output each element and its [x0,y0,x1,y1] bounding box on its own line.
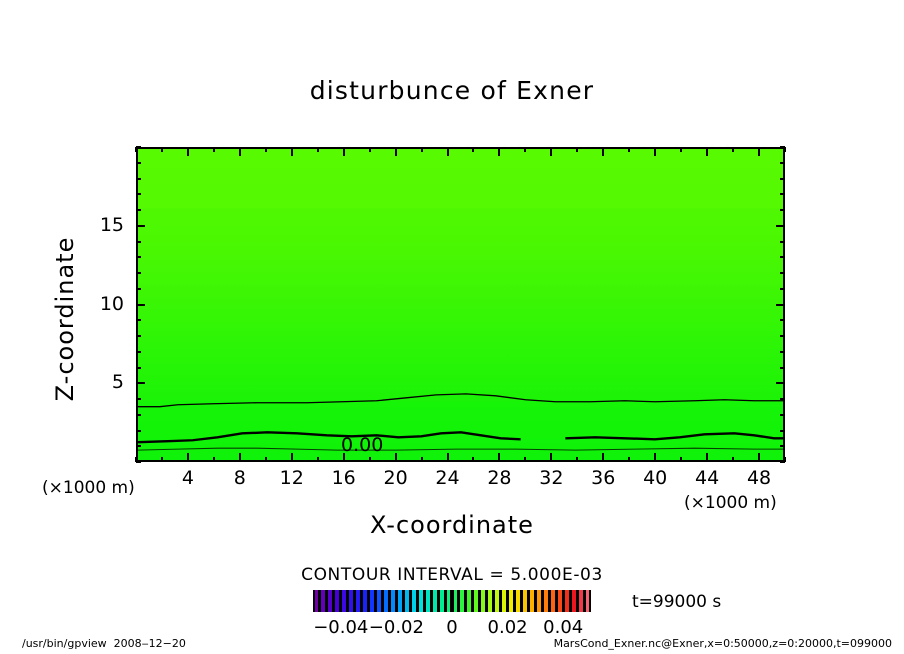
footer-command: /usr/bin/gpview 2008‒12−20 [22,637,186,650]
y-tick-minor [136,351,141,353]
x-tick-minor [680,457,682,462]
colorbar-band [447,590,451,612]
contour-interval-label: CONTOUR INTERVAL = 5.000E-03 [0,565,904,585]
x-tick-major [395,453,397,462]
y-tick-label: 10 [74,293,124,315]
colorbar-band [440,590,444,612]
colorbar-band [454,590,458,612]
x-tick-major [550,453,552,462]
y-tick-right-minor [780,319,785,321]
colorbar-band [391,590,395,612]
x-tick-minor [265,457,267,462]
colorbar-band [516,590,520,612]
y-tick-minor [136,146,141,148]
x-tick-top-minor [421,147,423,152]
x-tick-label: 48 [734,467,784,489]
y-tick-minor [136,162,141,164]
y-tick-right-minor [780,461,785,463]
colorbar-band [315,590,319,612]
y-tick-major [136,382,145,384]
footer-dataset: MarsCond_Exner.nc@Exner,x=0:50000,z=0:20… [554,637,892,650]
x-tick-label: 12 [267,467,317,489]
x-tick-minor [524,457,526,462]
colorbar-band [530,590,534,612]
x-tick-major [187,453,189,462]
x-tick-label: 36 [578,467,628,489]
x-tick-top-major [395,147,397,156]
page-title: disturbunce of Exner [0,76,904,105]
x-tick-top-minor [680,147,682,152]
x-tick-major [758,453,760,462]
colorbar-band [460,590,464,612]
colorbar-band [537,590,541,612]
y-tick-right-minor [780,193,785,195]
y-tick-minor [136,367,141,369]
y-tick-minor [136,445,141,447]
x-tick-minor [732,457,734,462]
x-tick-major [239,453,241,462]
colorbar-band [328,590,332,612]
colorbar-band [384,590,388,612]
x-tick-top-major [498,147,500,156]
x-tick-minor [421,457,423,462]
x-tick-minor [317,457,319,462]
y-tick-major [136,304,145,306]
y-tick-label: 15 [74,214,124,236]
contour-plot-area [136,147,785,462]
colorbar-band [356,590,360,612]
x-tick-label: 16 [319,467,369,489]
y-tick-right-minor [780,430,785,432]
x-tick-minor [161,457,163,462]
y-tick-minor [136,414,141,416]
colorbar-band [551,590,555,612]
colorbar-band [412,590,416,612]
x-tick-top-minor [628,147,630,152]
y-tick-minor [136,288,141,290]
colorbar-band [544,590,548,612]
x-tick-label: 28 [474,467,524,489]
x-tick-top-major [187,147,189,156]
x-tick-label: 20 [371,467,421,489]
x-tick-top-major [343,147,345,156]
x-tick-label: 44 [682,467,732,489]
y-tick-right-minor [780,272,785,274]
x-tick-top-minor [472,147,474,152]
colorbar-band [405,590,409,612]
colorbar-band [565,590,569,612]
x-axis-unit-label: (×1000 m) [684,493,777,513]
y-tick-right-major [776,225,785,227]
colorbar-band [502,590,506,612]
y-tick-minor [136,319,141,321]
x-tick-minor [213,457,215,462]
x-tick-top-major [654,147,656,156]
x-tick-top-minor [213,147,215,152]
colorbar-band [572,590,576,612]
colorbar-band [398,590,402,612]
colorbar-band [495,590,499,612]
y-tick-right-minor [780,241,785,243]
colorbar-tick-label: 0.04 [523,617,603,638]
colorbar-band [579,590,583,612]
contour-lines [138,149,783,460]
y-tick-minor [136,209,141,211]
x-tick-top-minor [161,147,163,152]
y-tick-label: 5 [74,371,124,393]
y-tick-right-major [776,304,785,306]
x-tick-top-major [706,147,708,156]
x-tick-top-major [239,147,241,156]
x-tick-top-minor [732,147,734,152]
x-tick-top-major [602,147,604,156]
colorbar [313,590,591,612]
y-tick-right-minor [780,288,785,290]
y-tick-minor [136,241,141,243]
y-tick-right-minor [780,256,785,258]
y-tick-minor [136,256,141,258]
colorbar-band [474,590,478,612]
colorbar-band [342,590,346,612]
y-tick-minor [136,335,141,337]
contour-label-zero: 0.00 [341,434,383,456]
y-tick-minor [136,461,141,463]
x-tick-major [602,453,604,462]
time-annotation: t=99000 s [632,592,721,612]
y-axis-title: Z-coordinate [51,199,79,439]
x-tick-minor [472,457,474,462]
x-tick-label: 32 [526,467,576,489]
x-tick-label: 8 [215,467,265,489]
x-tick-major [654,453,656,462]
y-tick-minor [136,178,141,180]
colorbar-band [481,590,485,612]
x-tick-label: 40 [630,467,680,489]
x-tick-top-major [758,147,760,156]
y-tick-right-minor [780,146,785,148]
y-tick-right-minor [780,178,785,180]
y-tick-minor [136,272,141,274]
colorbar-band [419,590,423,612]
x-tick-major [498,453,500,462]
y-tick-right-minor [780,209,785,211]
y-tick-right-major [776,382,785,384]
x-tick-top-major [447,147,449,156]
colorbar-band [488,590,492,612]
colorbar-band [321,590,325,612]
x-tick-major [291,453,293,462]
y-tick-right-minor [780,335,785,337]
x-tick-major [447,453,449,462]
x-tick-minor [628,457,630,462]
colorbar-band [467,590,471,612]
colorbar-band [426,590,430,612]
y-tick-right-minor [780,414,785,416]
y-tick-right-minor [780,445,785,447]
x-axis-title: X-coordinate [0,511,904,539]
colorbar-band [370,590,374,612]
x-tick-top-minor [369,147,371,152]
x-tick-top-major [291,147,293,156]
colorbar-band [433,590,437,612]
x-tick-label: 4 [163,467,213,489]
x-tick-minor [576,457,578,462]
x-tick-minor [369,457,371,462]
colorbar-band [335,590,339,612]
x-tick-top-minor [265,147,267,152]
x-tick-major [343,453,345,462]
y-tick-minor [136,430,141,432]
x-tick-top-minor [524,147,526,152]
y-tick-major [136,225,145,227]
y-tick-right-minor [780,162,785,164]
colorbar-band [558,590,562,612]
colorbar-band [377,590,381,612]
y-tick-minor [136,398,141,400]
y-tick-right-minor [780,398,785,400]
y-tick-right-minor [780,367,785,369]
y-tick-minor [136,193,141,195]
x-tick-major [706,453,708,462]
colorbar-band [349,590,353,612]
colorbar-band [586,590,590,612]
y-axis-unit-label: (×1000 m) [42,478,135,498]
colorbar-band [523,590,527,612]
x-tick-label: 24 [423,467,473,489]
y-tick-right-minor [780,351,785,353]
colorbar-band [363,590,367,612]
x-tick-top-major [550,147,552,156]
colorbar-band [509,590,513,612]
x-tick-top-minor [576,147,578,152]
x-tick-top-minor [317,147,319,152]
